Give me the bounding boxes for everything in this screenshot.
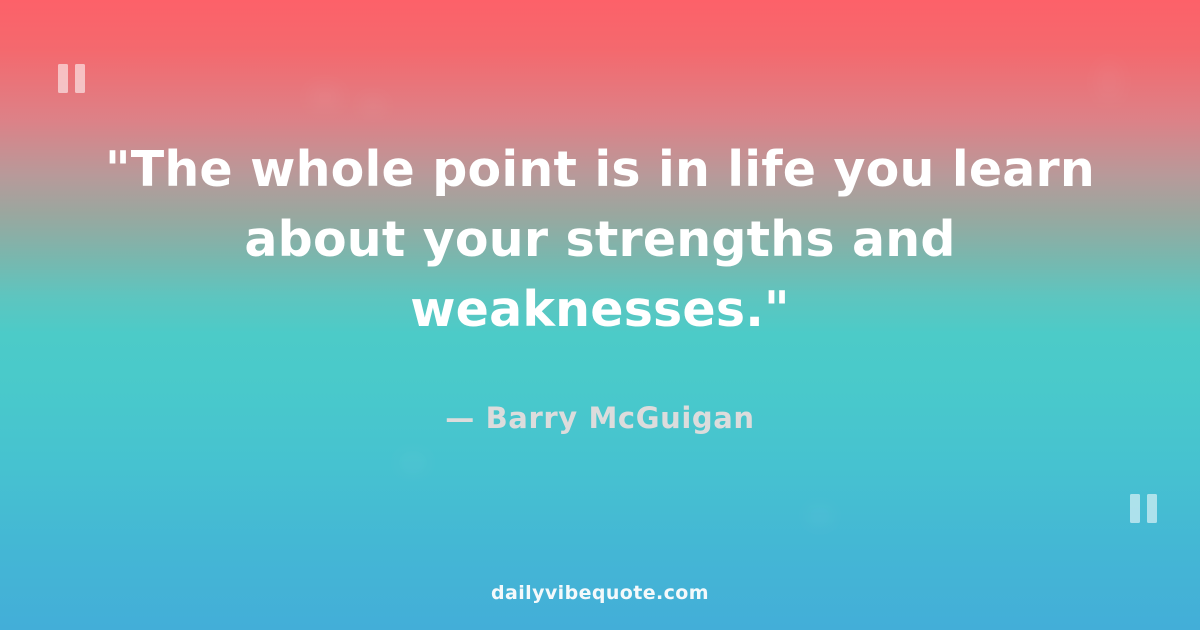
quote-mark-bar	[1147, 494, 1157, 523]
quote-mark-icon-bottom-right	[1130, 494, 1157, 523]
quote-mark-bar	[58, 64, 68, 93]
quote-mark-bar	[75, 64, 85, 93]
quote-mark-icon-top-left	[58, 64, 85, 93]
quote-card: "The whole point is in life you learn ab…	[0, 0, 1200, 630]
site-footer-url: dailyvibequote.com	[0, 582, 1200, 604]
quote-content: "The whole point is in life you learn ab…	[0, 0, 1200, 630]
quote-attribution: — Barry McGuigan	[445, 401, 754, 435]
quote-mark-bar	[1130, 494, 1140, 523]
quote-text: "The whole point is in life you learn ab…	[50, 135, 1150, 345]
